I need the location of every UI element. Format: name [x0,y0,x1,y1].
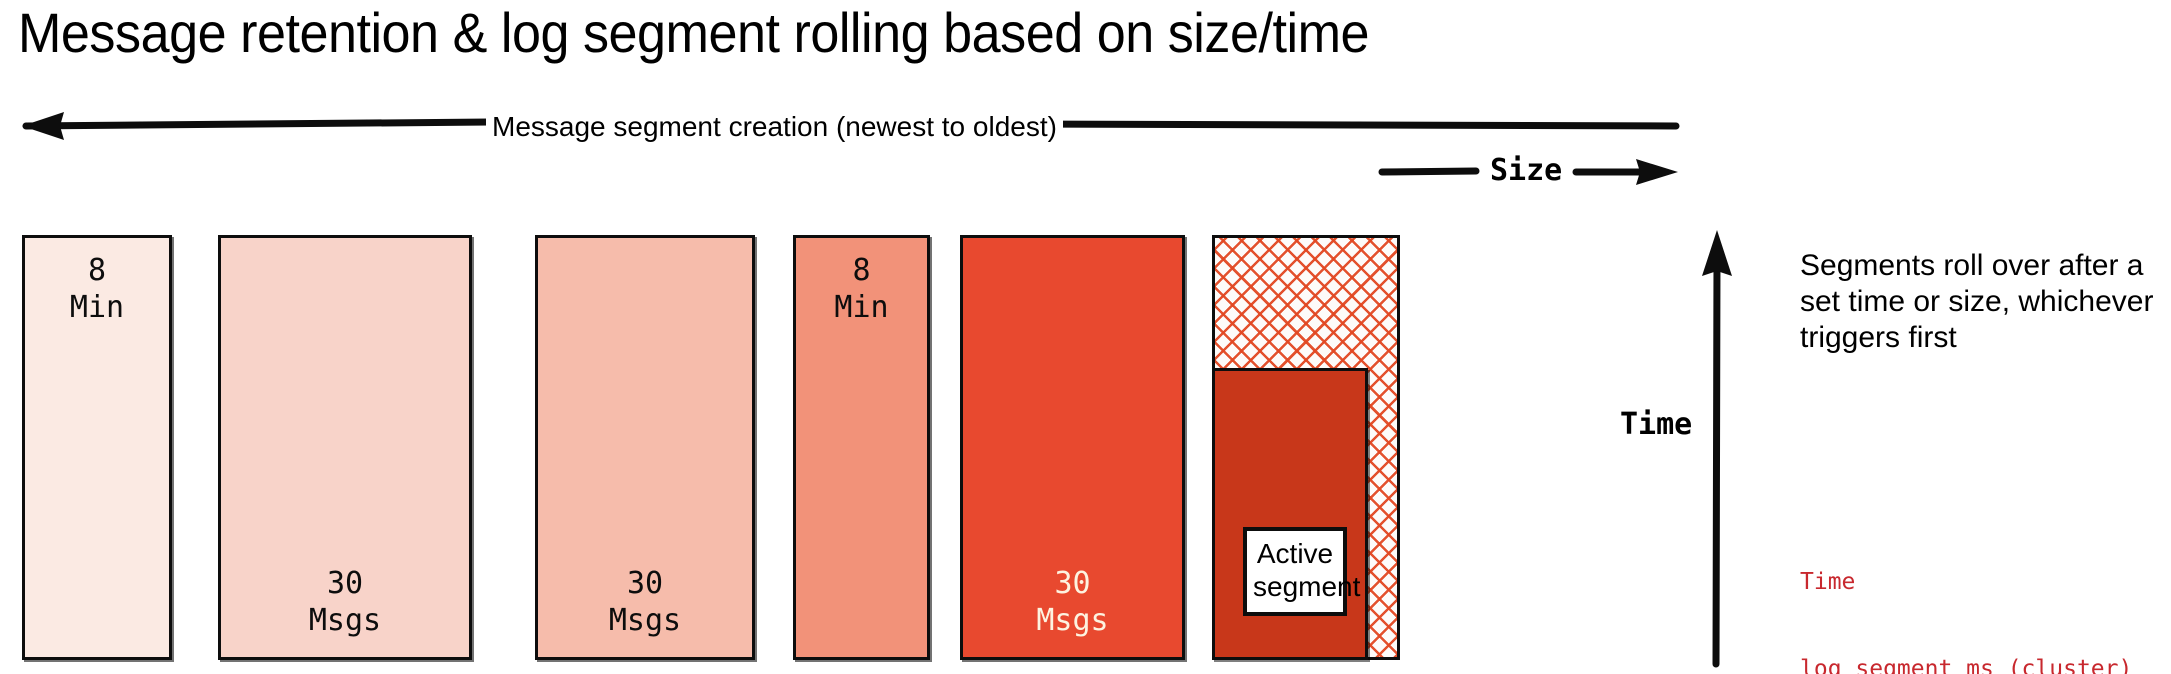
time-axis: Time [1690,228,1750,668]
segment-bar-label: 30 Msgs [963,565,1182,639]
segment-bar[interactable]: 30 Msgs [218,235,472,660]
page-title: Message retention & log segment rolling … [18,2,1369,64]
diagram-canvas: Message retention & log segment rolling … [0,0,2171,674]
config-group-time: Time log_segment_ms (cluster) segment.ms… [1800,510,2168,674]
explanation-note: Segments roll over after a set time or s… [1800,248,2160,356]
time-axis-label: Time [1614,404,1698,446]
segment-bar[interactable]: 30 Msgs [535,235,755,660]
creation-axis: Message segment creation (newest to olde… [20,100,1680,144]
config-reference: Time log_segment_ms (cluster) segment.ms… [1800,452,2168,674]
time-axis-arrow [1690,228,1750,668]
active-segment-block[interactable] [1212,368,1368,660]
segment-bar-label: 8 Min [796,252,927,326]
creation-axis-label: Message segment creation (newest to olde… [486,113,1063,141]
segment-bar[interactable]: 8 Min [793,235,930,660]
config-time-heading: Time [1800,568,2168,597]
size-axis-label: Size [1482,156,1570,186]
segment-bar[interactable]: 8 Min [22,235,172,660]
active-segment-label: Active segment [1243,527,1347,616]
segment-bar-label: 30 Msgs [221,565,469,639]
segment-bar[interactable]: 30 Msgs [960,235,1185,660]
segment-bar-label: 8 Min [25,252,169,326]
size-axis: Size [1378,152,1680,192]
segment-bar-label: 30 Msgs [538,565,752,639]
config-time-lines: log_segment_ms (cluster) segment.ms (top… [1800,655,2168,674]
